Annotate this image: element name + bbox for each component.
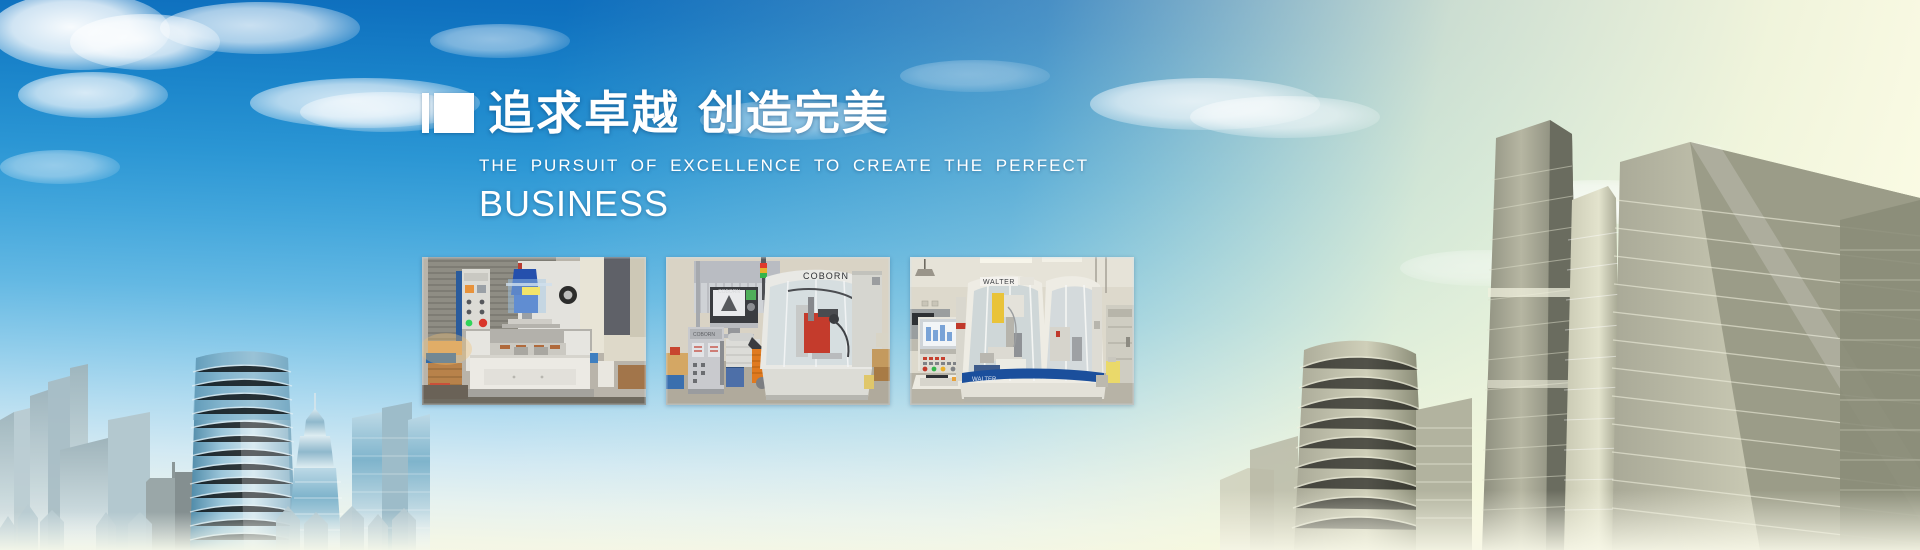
- hero-text-block: 追求卓越 创造完美 THE PURSUIT OF EXCELLENCE TO C…: [422, 84, 1182, 224]
- photo-walter-tool-grinder[interactable]: WALTER WALTER: [910, 257, 1134, 405]
- coborn-grinding-machine-image: COBORN COBORN: [666, 257, 890, 405]
- keyword-business: BUSINESS: [479, 184, 1182, 224]
- square-logo-mark-icon: [422, 93, 474, 133]
- svg-text:WALTER: WALTER: [972, 377, 997, 383]
- svg-text:COBORN: COBORN: [803, 271, 849, 281]
- product-photo-strip: COBORN COBORN: [422, 257, 1134, 405]
- photo-coborn-grinding-machine[interactable]: COBORN COBORN: [666, 257, 890, 405]
- photo-cnc-edm-machine[interactable]: [422, 257, 646, 405]
- svg-text:COBORN: COBORN: [718, 289, 740, 295]
- headline-chinese: 追求卓越 创造完美: [488, 88, 890, 138]
- svg-text:WALTER: WALTER: [983, 279, 1015, 286]
- headline-row: 追求卓越 创造完美: [422, 84, 1182, 142]
- svg-text:COBORN: COBORN: [693, 332, 715, 338]
- cnc-edm-machine-image: [422, 257, 646, 405]
- subtitle-english: THE PURSUIT OF EXCELLENCE TO CREATE THE …: [479, 156, 1182, 176]
- walter-tool-grinder-image: WALTER WALTER: [910, 257, 1134, 405]
- hero-banner: 追求卓越 创造完美 THE PURSUIT OF EXCELLENCE TO C…: [0, 0, 1920, 550]
